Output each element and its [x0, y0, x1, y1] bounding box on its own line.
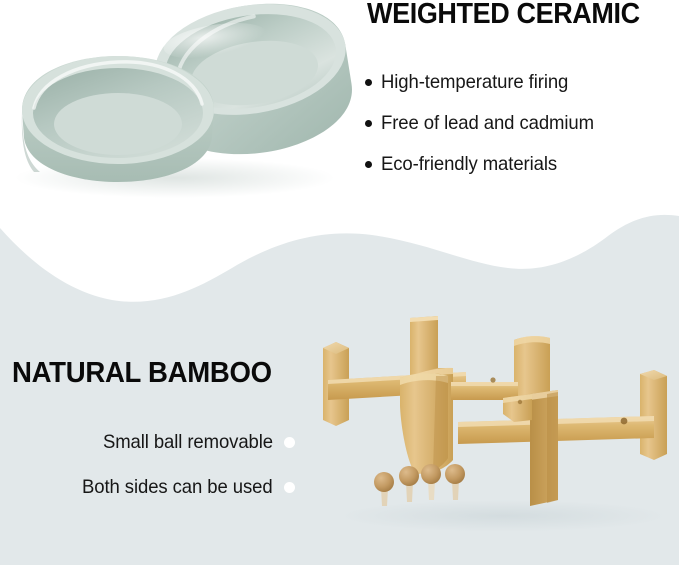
- list-item-label: Eco-friendly materials: [381, 153, 557, 176]
- ceramic-feature-list: High-temperature firing Free of lead and…: [365, 62, 675, 185]
- list-item: Both sides can be used: [0, 465, 300, 510]
- list-item: Eco-friendly materials: [365, 144, 675, 185]
- bullet-dot-icon: [365, 79, 372, 86]
- bullet-dot-icon: [365, 120, 372, 127]
- list-item-label: Free of lead and cadmium: [381, 112, 594, 135]
- bamboo-feature-list: Small ball removable Both sides can be u…: [0, 420, 300, 510]
- list-item-label: High-temperature firing: [381, 71, 568, 94]
- bullet-dot-icon: [284, 482, 295, 493]
- bowl-flat: [22, 56, 214, 182]
- bullet-dot-icon: [284, 437, 295, 448]
- section-natural-bamboo: NATURAL BAMBOO Small ball removable Both…: [0, 300, 679, 565]
- peg: [399, 466, 419, 502]
- bullet-dot-icon: [365, 161, 372, 168]
- list-item: Small ball removable: [0, 420, 300, 465]
- product-infographic: WEIGHTED CERAMIC High-temperature firing…: [0, 0, 679, 565]
- peg: [421, 464, 441, 500]
- section-weighted-ceramic: WEIGHTED CERAMIC High-temperature firing…: [0, 0, 679, 210]
- ceramic-bowls-photo: [0, 0, 360, 200]
- list-item-label: Small ball removable: [103, 431, 273, 454]
- stand-shadow: [338, 500, 668, 532]
- page-title-natural-bamboo: NATURAL BAMBOO: [12, 357, 272, 390]
- list-item: High-temperature firing: [365, 62, 675, 103]
- bamboo-stand-photo: [318, 310, 679, 565]
- list-item-label: Both sides can be used: [82, 476, 273, 499]
- peg: [445, 464, 465, 500]
- page-title-weighted-ceramic: WEIGHTED CERAMIC: [367, 0, 640, 32]
- list-item: Free of lead and cadmium: [365, 103, 675, 144]
- peg: [374, 472, 394, 506]
- top-text-block: WEIGHTED CERAMIC High-temperature firing…: [360, 0, 679, 200]
